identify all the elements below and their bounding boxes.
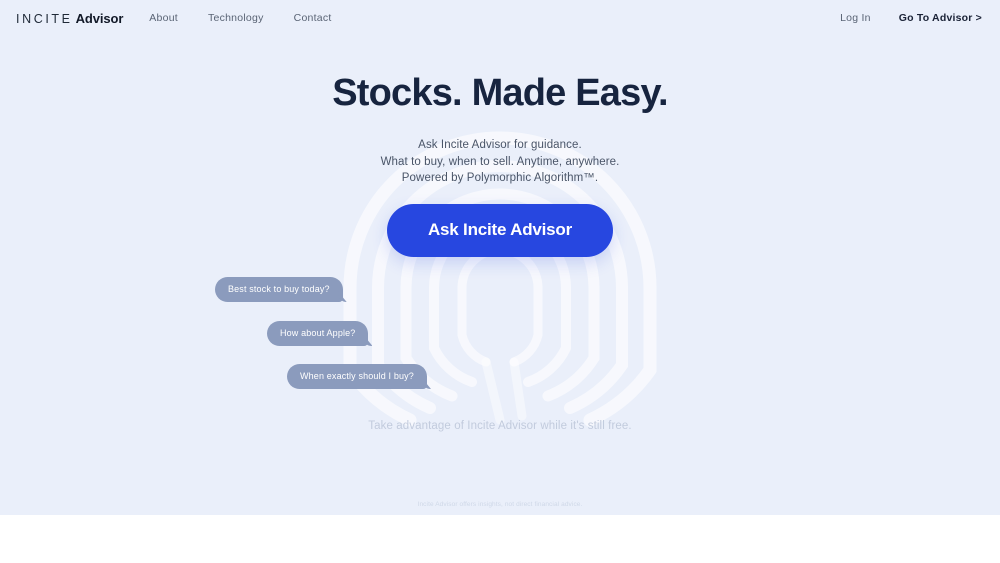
nav-link-contact[interactable]: Contact (294, 12, 332, 24)
brand-logo[interactable]: INCITE Advisor (16, 11, 123, 26)
navbar: INCITE Advisor About Technology Contact … (0, 0, 1000, 36)
page-root: INCITE Advisor About Technology Contact … (0, 0, 1000, 563)
nav-link-technology[interactable]: Technology (208, 12, 264, 24)
cta-container: Ask Incite Advisor (0, 204, 1000, 257)
hero-subtext: Ask Incite Advisor for guidance. What to… (0, 137, 1000, 187)
chat-bubble[interactable]: How about Apple? (267, 321, 368, 346)
promo-text: Take advantage of Incite Advisor while i… (0, 420, 1000, 432)
nav-link-about[interactable]: About (149, 12, 178, 24)
disclaimer-text: Incite Advisor offers insights, not dire… (0, 501, 1000, 508)
page-title: Stocks. Made Easy. (0, 72, 1000, 115)
chat-bubble[interactable]: Best stock to buy today? (215, 277, 343, 302)
login-link[interactable]: Log In (840, 12, 871, 24)
go-to-advisor-link[interactable]: Go To Advisor > (899, 12, 982, 24)
brand-name-secondary: Advisor (76, 11, 124, 26)
brand-name-primary: INCITE (16, 12, 73, 26)
ask-incite-advisor-button[interactable]: Ask Incite Advisor (387, 204, 613, 257)
hero-subtext-line-1: Ask Incite Advisor for guidance. (0, 137, 1000, 154)
chat-bubble[interactable]: When exactly should I buy? (287, 364, 427, 389)
hero-section: INCITE Advisor About Technology Contact … (0, 0, 1000, 515)
hero-subtext-line-2: What to buy, when to sell. Anytime, anyw… (0, 154, 1000, 171)
nav-actions: Log In Go To Advisor > (840, 12, 984, 24)
nav-links: About Technology Contact (149, 12, 331, 24)
hero-subtext-line-3: Powered by Polymorphic Algorithm™. (0, 170, 1000, 187)
